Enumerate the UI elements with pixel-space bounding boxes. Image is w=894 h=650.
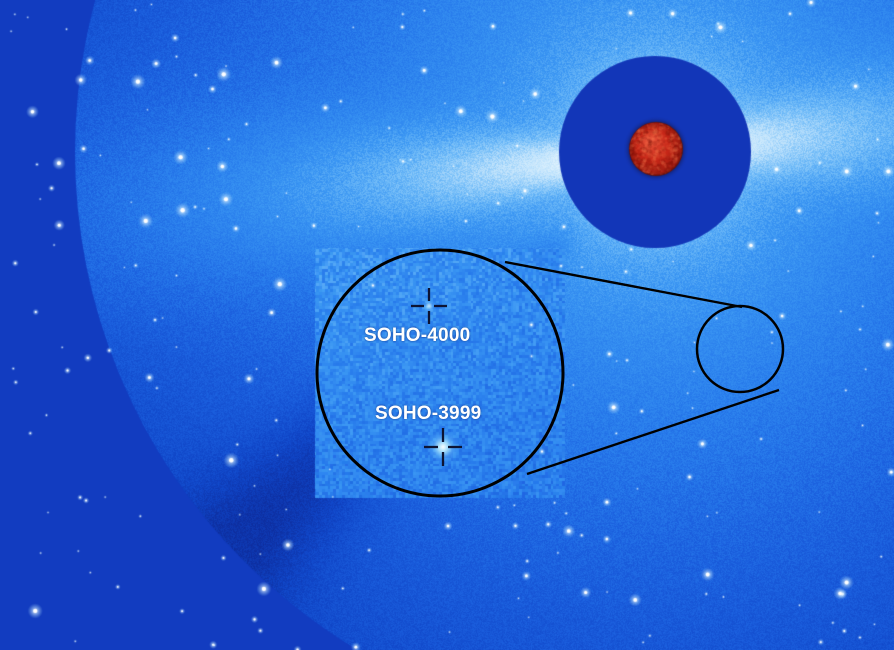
crosshair-markers — [411, 288, 462, 466]
crosshair-soho-3999 — [424, 428, 462, 466]
source-region-circle — [697, 306, 783, 392]
comet-label-soho-4000: SOHO-4000 — [364, 325, 470, 347]
crosshair-soho-4000 — [411, 288, 447, 324]
coronagraph-image: SOHO-4000 SOHO-3999 — [0, 0, 894, 650]
comet-label-soho-3999: SOHO-3999 — [375, 403, 481, 425]
tangent-line-lower — [527, 390, 779, 474]
magnifier-inset-ring — [317, 250, 563, 496]
